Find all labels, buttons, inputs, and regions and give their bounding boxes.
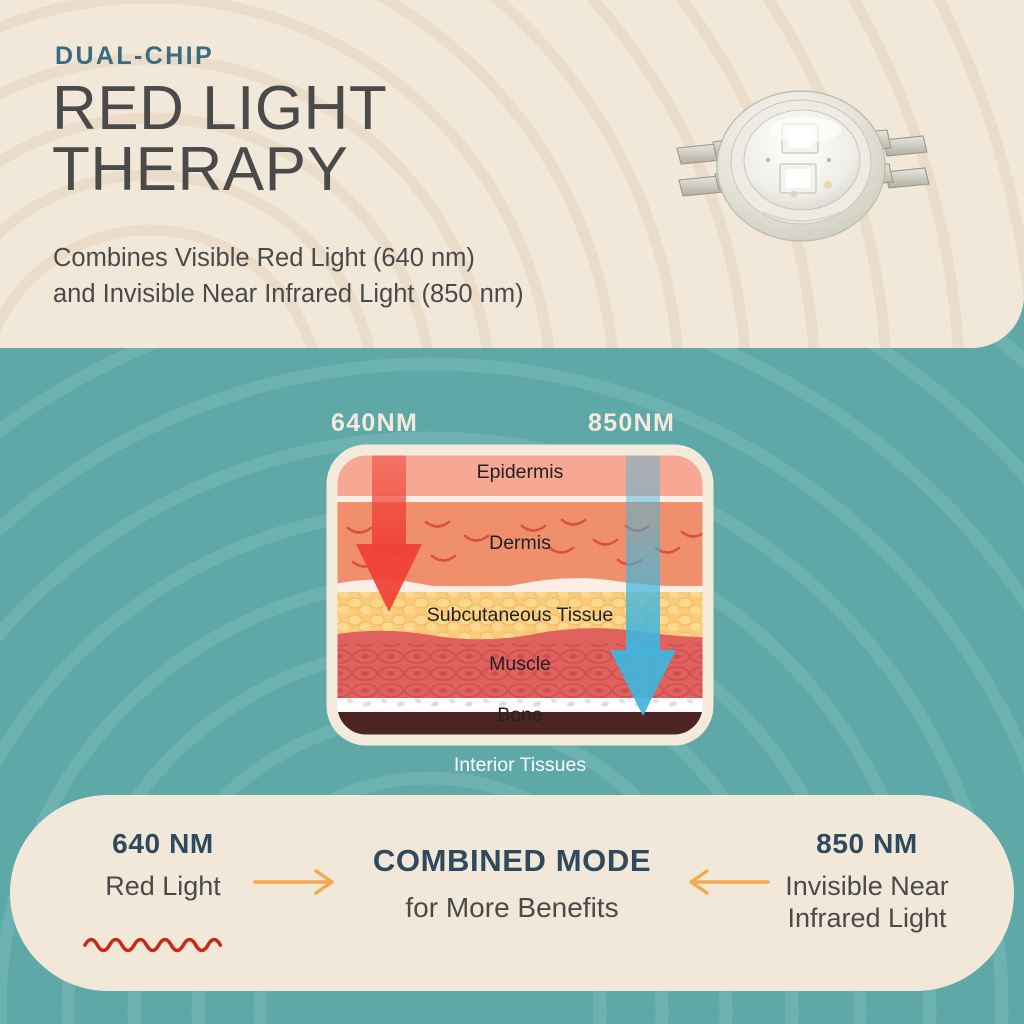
page-title-line-1: RED LIGHT [52, 78, 387, 139]
beam-label-850nm: 850NM [588, 409, 675, 438]
page-title-line-2: THERAPY [52, 139, 387, 200]
footer-column-combined: COMBINED MODE for More Benefits [310, 843, 714, 925]
footer-combined-title: COMBINED MODE [310, 843, 714, 879]
footer-640nm-title: 640 NM [38, 828, 288, 860]
page-subtitle-line-1: Combines Visible Red Light (640 nm) [53, 240, 524, 276]
dual-chip-led-photo [655, 72, 945, 262]
footer-column-850nm: 850 NM Invisible Near Infrared Light [736, 828, 998, 935]
footer-column-640nm: 640 NM Red Light [38, 828, 288, 902]
page-subtitle: Combines Visible Red Light (640 nm) and … [53, 240, 524, 312]
page-subtitle-line-2: and Invisible Near Infrared Light (850 n… [53, 276, 524, 312]
footer-combined-subtitle: for More Benefits [310, 891, 714, 925]
footer-640nm-subtitle: Red Light [38, 870, 288, 902]
footer-panel: 640 NM Red Light COMBINED MODE for More … [10, 795, 1014, 991]
footer-850nm-title: 850 NM [736, 828, 998, 860]
infographic-poster: DUAL-CHIP RED LIGHT THERAPY Combines Vis… [0, 0, 1024, 1024]
footer-850nm-subtitle: Invisible Near Infrared Light [736, 870, 998, 935]
eyebrow-label: DUAL-CHIP [55, 42, 214, 71]
skin-layer-diagram [326, 444, 714, 746]
page-title: RED LIGHT THERAPY [52, 78, 387, 201]
beam-label-640nm: 640NM [331, 409, 418, 438]
red-wave-icon [82, 932, 230, 958]
